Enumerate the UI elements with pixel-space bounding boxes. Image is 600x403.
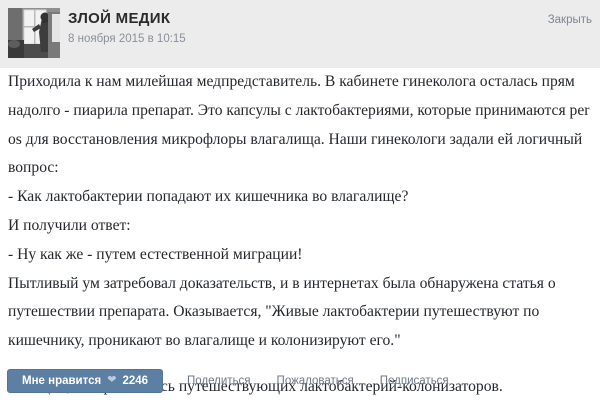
subscribe-link[interactable]: Подписаться [380,375,449,387]
post-body: Приходила к нам милейшая медпредставител… [0,68,600,402]
like-button-label: Мне нравится [22,375,101,387]
post-header: ЗЛОЙ МЕДИК 8 ноября 2015 в 10:15 Закрыть [0,0,600,68]
report-link[interactable]: Пожаловаться [277,375,354,387]
post-paragraph: Пытливый ум затребовал доказательств, и … [0,270,600,356]
post-paragraph: Приходила к нам милейшая медпредставител… [0,68,600,183]
avatar-photo-icon [8,8,60,58]
group-name: ЗЛОЙ МЕДИК [68,10,186,28]
like-count: 2246 [122,375,148,387]
share-link[interactable]: Поделиться [187,375,251,387]
like-button[interactable]: Мне нравится ❤ 2246 [7,369,163,393]
post-paragraph: И получили ответ: [0,212,600,241]
post-paragraph: - Ну как же - путем естественной миграци… [0,241,600,270]
post-footer: Мне нравится ❤ 2246 Поделиться Пожаловат… [0,368,600,394]
heart-icon: ❤ [107,375,116,386]
avatar[interactable] [8,8,60,58]
post-paragraph: - Как лактобактерии попадают их кишечник… [0,183,600,212]
footer-links: Поделиться Пожаловаться Подписаться [187,375,449,387]
header-text-block: ЗЛОЙ МЕДИК 8 ноября 2015 в 10:15 [68,10,186,47]
post-date: 8 ноября 2015 в 10:15 [68,31,186,47]
close-link[interactable]: Закрыть [548,14,592,26]
